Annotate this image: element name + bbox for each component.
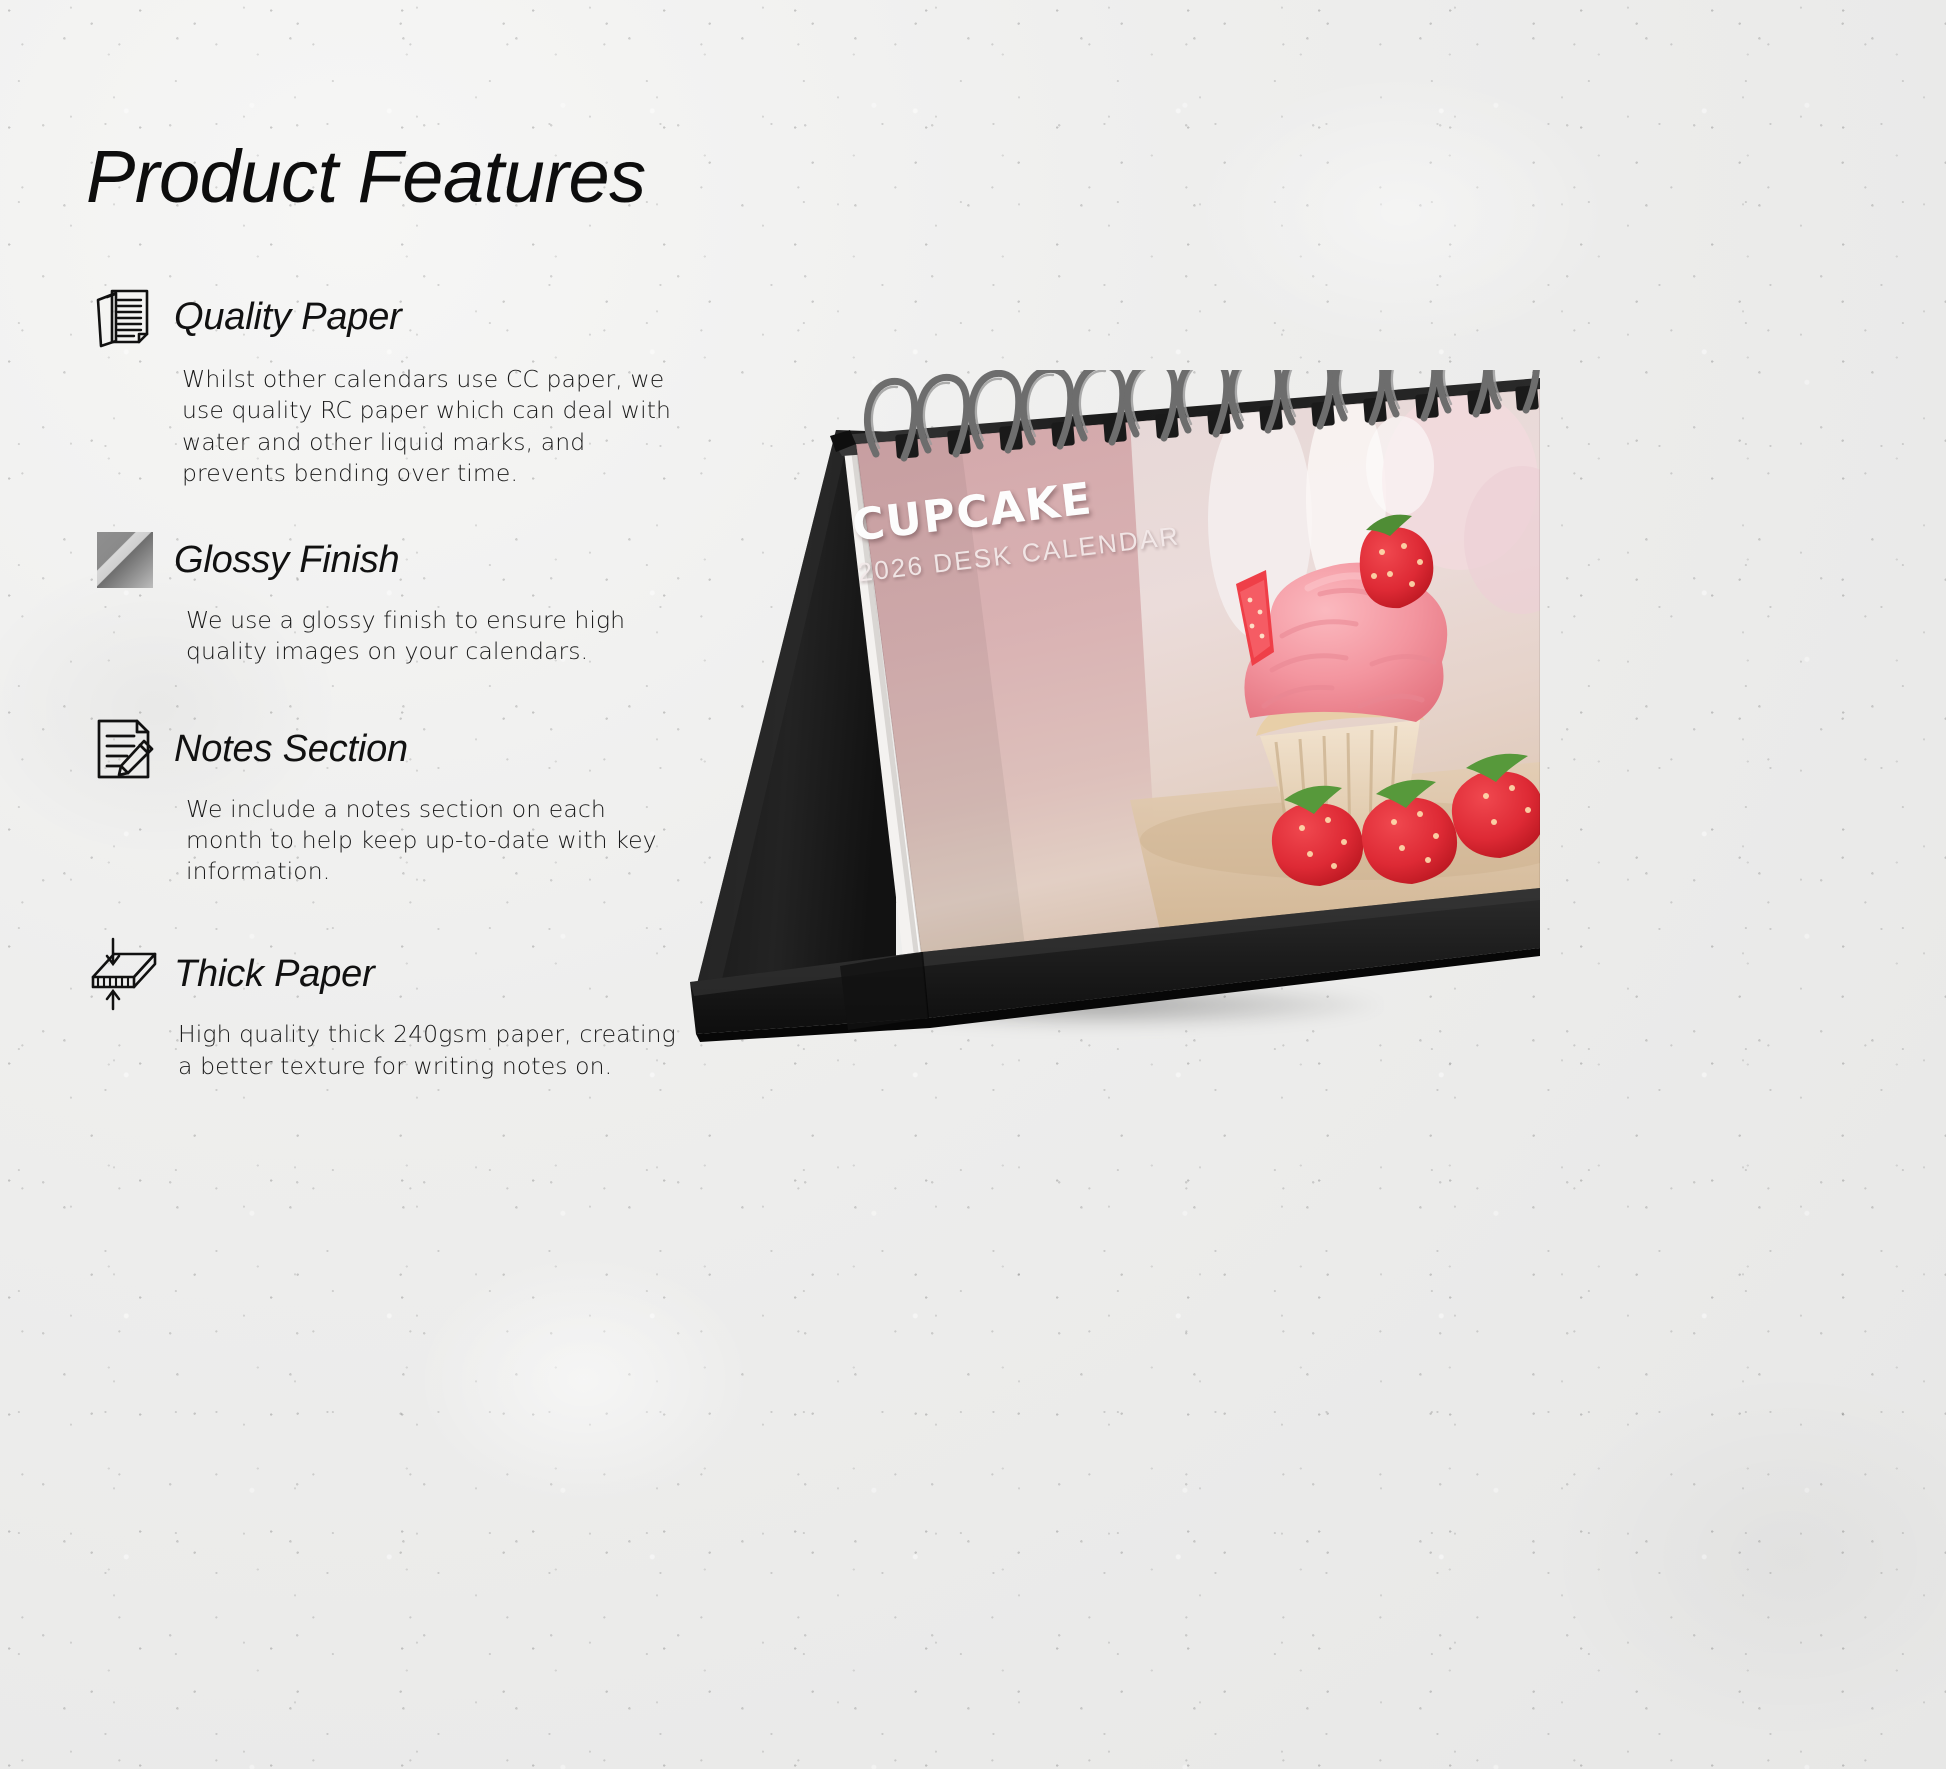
- glossy-swatch-icon: [86, 523, 164, 597]
- feature-item-notes-section: Notes Section We include a notes section…: [86, 712, 686, 888]
- features-column: Product Features: [86, 140, 686, 1106]
- feature-body: We use a glossy finish to ensure high qu…: [186, 605, 686, 668]
- feature-header: Quality Paper: [86, 280, 686, 354]
- feature-heading: Glossy Finish: [174, 541, 399, 579]
- feature-header: Glossy Finish: [86, 523, 686, 597]
- stacked-papers-icon: [86, 280, 164, 354]
- calendar-illustration: [660, 370, 1540, 1090]
- feature-header: Thick Paper: [86, 937, 686, 1011]
- feature-body: High quality thick 240gsm paper, creatin…: [178, 1019, 678, 1082]
- feature-item-thick-paper: Thick Paper High quality thick 240gsm pa…: [86, 937, 686, 1082]
- feature-header: Notes Section: [86, 712, 686, 786]
- page-title: Product Features: [86, 140, 686, 214]
- note-pencil-icon: [86, 712, 164, 786]
- paper-thickness-icon: [86, 937, 164, 1011]
- feature-heading: Quality Paper: [174, 298, 402, 336]
- feature-item-quality-paper: Quality Paper Whilst other calendars use…: [86, 280, 686, 489]
- desk-calendar-mockup: CUPCAKE 2026 DESK CALENDAR: [660, 370, 1540, 1090]
- feature-item-glossy-finish: Glossy Finish We use a glossy finish to …: [86, 523, 686, 668]
- feature-body: Whilst other calendars use CC paper, we …: [182, 364, 682, 489]
- feature-heading: Thick Paper: [174, 955, 375, 993]
- calendar-cover: [856, 389, 1540, 960]
- feature-body: We include a notes section on each month…: [186, 794, 686, 888]
- feature-heading: Notes Section: [174, 730, 408, 768]
